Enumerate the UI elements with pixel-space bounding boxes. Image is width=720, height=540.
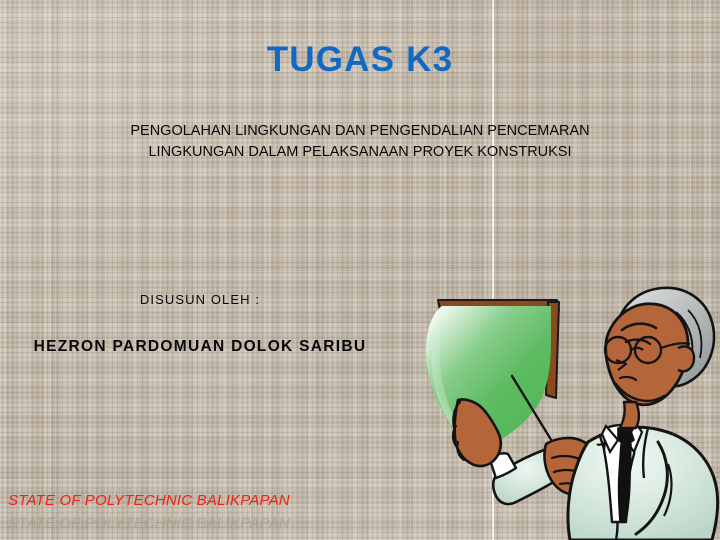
slide-title: TUGAS K3 bbox=[0, 40, 720, 80]
author-label: DISUSUN OLEH : bbox=[40, 292, 360, 307]
presentation-slide: TUGAS K3 PENGOLAHAN LINGKUNGAN DAN PENGE… bbox=[0, 0, 720, 540]
presenter-head bbox=[605, 288, 714, 428]
slide-subtitle: PENGOLAHAN LINGKUNGAN DAN PENGENDALIAN P… bbox=[110, 121, 610, 163]
footer-institution: STATE OF POLYTECHNIC BALIKPAPAN bbox=[8, 492, 290, 509]
footer-institution-shadow: STATE OF POLYTECHNIC BALIKPAPAN bbox=[8, 515, 290, 532]
author-name: HEZRON PARDOMUAN DOLOK SARIBU bbox=[20, 335, 380, 359]
presenter-illustration bbox=[420, 278, 720, 540]
presenter-body bbox=[568, 424, 718, 540]
